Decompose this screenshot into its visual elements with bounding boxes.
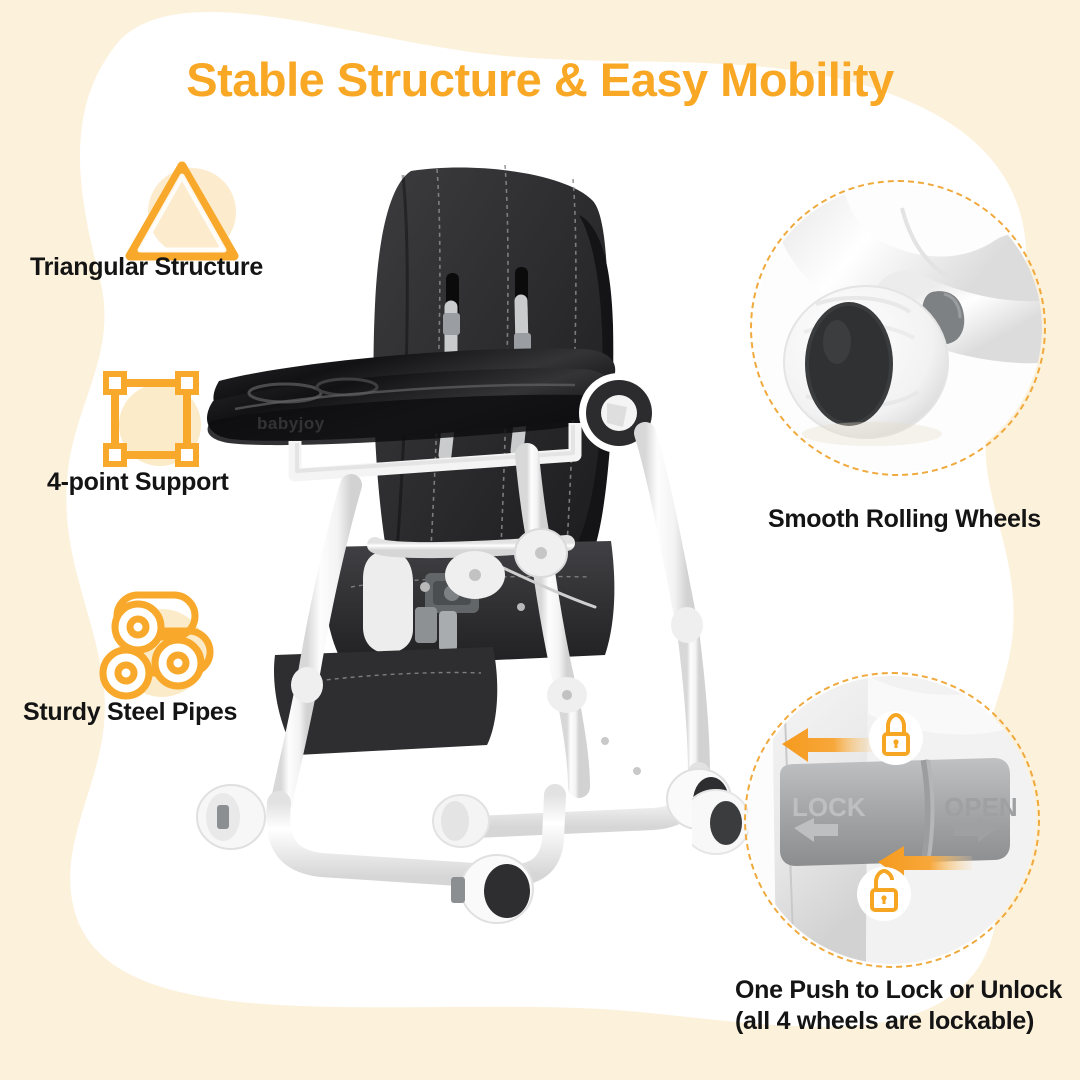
lock-caption-line2: (all 4 wheels are lockable): [735, 1006, 1062, 1037]
wheel-closeup-inset: [750, 180, 1046, 476]
feature-four-point-support: 4-point Support: [80, 365, 340, 515]
lock-closeup-inset: LOCK OPEN: [744, 672, 1040, 968]
feature-label: 4-point Support: [47, 468, 229, 497]
feature-label: Sturdy Steel Pipes: [23, 698, 237, 727]
triangle-icon: [120, 150, 250, 270]
lock-closeup-caption: One Push to Lock or Unlock (all 4 wheels…: [735, 975, 1062, 1036]
caster-wheel: [197, 785, 265, 849]
feature-sturdy-steel-pipes: Sturdy Steel Pipes: [85, 585, 345, 745]
inset-dashed-ring: [744, 672, 1040, 968]
feature-triangular-structure: Triangular Structure: [100, 150, 360, 300]
wheel-closeup-caption: Smooth Rolling Wheels: [768, 505, 1041, 534]
four-point-square-icon: [90, 365, 220, 480]
feature-label: Triangular Structure: [30, 253, 263, 282]
lock-caption-line1: One Push to Lock or Unlock: [735, 975, 1062, 1006]
page-title: Stable Structure & Easy Mobility: [0, 52, 1080, 107]
infographic-stage: Stable Structure & Easy Mobility Triangu…: [0, 0, 1080, 1080]
caster-wheel: [433, 795, 489, 847]
inset-dashed-ring: [750, 180, 1046, 476]
steel-pipes-icon: [90, 585, 225, 710]
